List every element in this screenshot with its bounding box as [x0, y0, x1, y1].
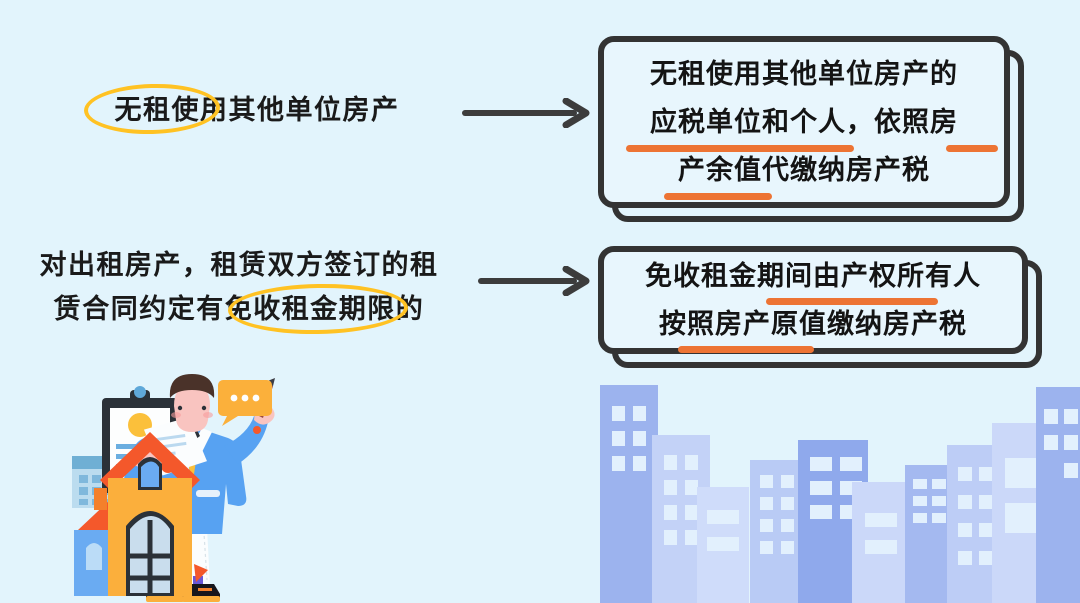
poster-canvas: 无租使用其他单位房产 无租使用其他单位房产的 应税单位和个人，依照房 产余值代缴… — [0, 0, 1080, 603]
card-text-row-2: 免收租金期间由产权所有人 按照房产原值缴纳房产税 — [645, 252, 981, 348]
card-underline-1c — [664, 193, 772, 200]
arrow-row-1 — [462, 98, 592, 128]
building — [750, 460, 806, 603]
card-face-row-1: 无租使用其他单位房产的 应税单位和个人，依照房 产余值代缴纳房产税 — [598, 36, 1010, 208]
left-label-row-1: 无租使用其他单位房产 — [72, 88, 442, 132]
building — [600, 385, 658, 603]
tax-officer-illustration — [60, 368, 380, 603]
result-card-row-2[interactable]: 免收租金期间由产权所有人 按照房产原值缴纳房产税 — [598, 246, 1028, 354]
skyline-buildings — [600, 385, 1080, 603]
left-label-row-2: 对出租房产，租赁双方签订的租 赁合同约定有免收租金期限的 — [8, 243, 470, 331]
arrow-row-2 — [478, 266, 592, 296]
card-text-row-1: 无租使用其他单位房产的 应税单位和个人，依照房 产余值代缴纳房产税 — [650, 50, 958, 194]
card-face-row-2: 免收租金期间由产权所有人 按照房产原值缴纳房产税 — [598, 246, 1028, 354]
city-skyline — [560, 373, 1080, 603]
result-card-row-1[interactable]: 无租使用其他单位房产的 应税单位和个人，依照房 产余值代缴纳房产税 — [598, 36, 1010, 208]
